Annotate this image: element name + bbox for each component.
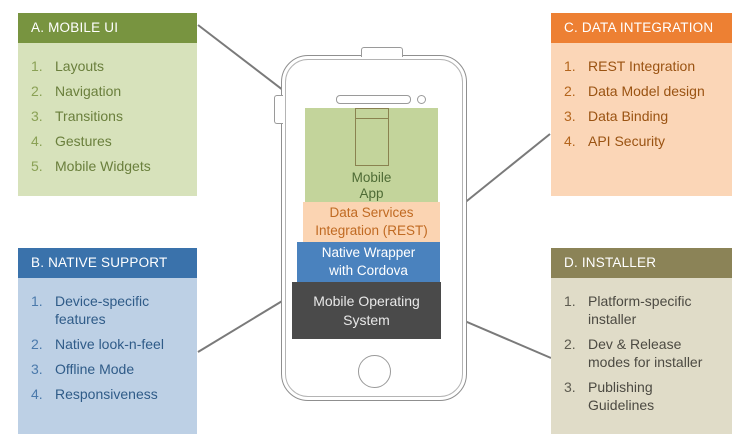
list-item-number: 3. — [31, 107, 55, 125]
list-item-number: 1. — [31, 292, 55, 328]
list-item-label: Responsiveness — [55, 385, 187, 403]
list-item-number: 1. — [31, 57, 55, 75]
list-item: 1. Layouts — [31, 57, 187, 75]
list-item-label: Data Model design — [588, 82, 722, 100]
list-item: 2. Dev & Release modes for installer — [564, 335, 722, 371]
list-item-number: 1. — [564, 57, 588, 75]
layer-native-wrapper-line1: Native Wrapper — [322, 244, 416, 262]
panel-b-list: 1. Device-specific features 2. Native lo… — [31, 292, 187, 403]
phone-home-button-icon — [358, 355, 391, 388]
phone-power-button-icon — [361, 47, 403, 57]
list-item-label: Platform-specific installer — [588, 292, 722, 328]
list-item-number: 2. — [31, 335, 55, 353]
panel-b-body: 1. Device-specific features 2. Native lo… — [18, 278, 197, 434]
panel-a-body: 1. Layouts 2. Navigation 3. Transitions … — [18, 43, 197, 196]
list-item-label: Native look-n-feel — [55, 335, 187, 353]
layer-native-wrapper[interactable]: Native Wrapper with Cordova — [297, 242, 440, 282]
panel-mobile-ui[interactable]: A. MOBILE UI 1. Layouts 2. Navigation 3.… — [18, 13, 197, 196]
list-item: 3. Transitions — [31, 107, 187, 125]
list-item-number: 5. — [31, 157, 55, 175]
list-item-label: Transitions — [55, 107, 187, 125]
panel-d-title: D. INSTALLER — [551, 248, 732, 278]
layer-data-services-line2: Integration (REST) — [315, 222, 428, 240]
list-item-label: Dev & Release modes for installer — [588, 335, 722, 371]
phone-speaker-icon — [336, 95, 411, 104]
list-item-label: Navigation — [55, 82, 187, 100]
layer-native-wrapper-line2: with Cordova — [329, 262, 408, 280]
list-item: 5. Mobile Widgets — [31, 157, 187, 175]
list-item: 2. Native look-n-feel — [31, 335, 187, 353]
layer-data-services-line1: Data Services — [329, 204, 413, 222]
list-item: 1. Platform-specific installer — [564, 292, 722, 328]
panel-a-list: 1. Layouts 2. Navigation 3. Transitions … — [31, 57, 187, 175]
panel-installer[interactable]: D. INSTALLER 1. Platform-specific instal… — [551, 248, 732, 434]
panel-d-list: 1. Platform-specific installer 2. Dev & … — [564, 292, 722, 414]
phone-camera-icon — [417, 95, 426, 104]
layer-mobile-app-text: Mobile App — [352, 170, 392, 202]
panel-a-title: A. MOBILE UI — [18, 13, 197, 43]
list-item-number: 2. — [564, 335, 588, 371]
list-item: 4. Responsiveness — [31, 385, 187, 403]
list-item: 2. Data Model design — [564, 82, 722, 100]
list-item: 1. REST Integration — [564, 57, 722, 75]
list-item-number: 3. — [564, 378, 588, 414]
mobile-app-icon — [355, 108, 389, 166]
layer-mobile-app[interactable]: Mobile App — [305, 108, 438, 202]
list-item-label: Data Binding — [588, 107, 722, 125]
list-item-number: 3. — [564, 107, 588, 125]
panel-native-support[interactable]: B. NATIVE SUPPORT 1. Device-specific fea… — [18, 248, 197, 434]
diagram-canvas: A. MOBILE UI 1. Layouts 2. Navigation 3.… — [0, 0, 750, 447]
list-item-label: Layouts — [55, 57, 187, 75]
layer-mobile-os-line2: System — [343, 311, 390, 330]
list-item-number: 3. — [31, 360, 55, 378]
list-item: 4. Gestures — [31, 132, 187, 150]
list-item-number: 2. — [31, 82, 55, 100]
list-item-label: Offline Mode — [55, 360, 187, 378]
list-item-label: REST Integration — [588, 57, 722, 75]
list-item-label: Mobile Widgets — [55, 157, 187, 175]
panel-b-title: B. NATIVE SUPPORT — [18, 248, 197, 278]
list-item: 4. API Security — [564, 132, 722, 150]
list-item-number: 1. — [564, 292, 588, 328]
list-item-number: 4. — [564, 132, 588, 150]
list-item-number: 2. — [564, 82, 588, 100]
panel-data-integration[interactable]: C. DATA INTEGRATION 1. REST Integration … — [551, 13, 732, 196]
layer-mobile-app-line1: Mobile — [352, 170, 392, 186]
layer-mobile-os-line1: Mobile Operating — [313, 292, 420, 311]
list-item: 3. Offline Mode — [31, 360, 187, 378]
layer-data-services[interactable]: Data Services Integration (REST) — [303, 202, 440, 242]
list-item-label: API Security — [588, 132, 722, 150]
list-item-label: Publishing Guidelines — [588, 378, 722, 414]
phone-volume-button-icon — [274, 95, 283, 124]
list-item-number: 4. — [31, 385, 55, 403]
panel-c-title: C. DATA INTEGRATION — [551, 13, 732, 43]
list-item: 1. Device-specific features — [31, 292, 187, 328]
list-item: 3. Publishing Guidelines — [564, 378, 722, 414]
list-item-number: 4. — [31, 132, 55, 150]
list-item: 2. Navigation — [31, 82, 187, 100]
panel-d-body: 1. Platform-specific installer 2. Dev & … — [551, 278, 732, 434]
list-item-label: Gestures — [55, 132, 187, 150]
list-item-label: Device-specific features — [55, 292, 187, 328]
layer-mobile-app-line2: App — [352, 186, 392, 202]
panel-c-list: 1. REST Integration 2. Data Model design… — [564, 57, 722, 150]
layer-mobile-os[interactable]: Mobile Operating System — [292, 282, 441, 339]
panel-c-body: 1. REST Integration 2. Data Model design… — [551, 43, 732, 196]
list-item: 3. Data Binding — [564, 107, 722, 125]
